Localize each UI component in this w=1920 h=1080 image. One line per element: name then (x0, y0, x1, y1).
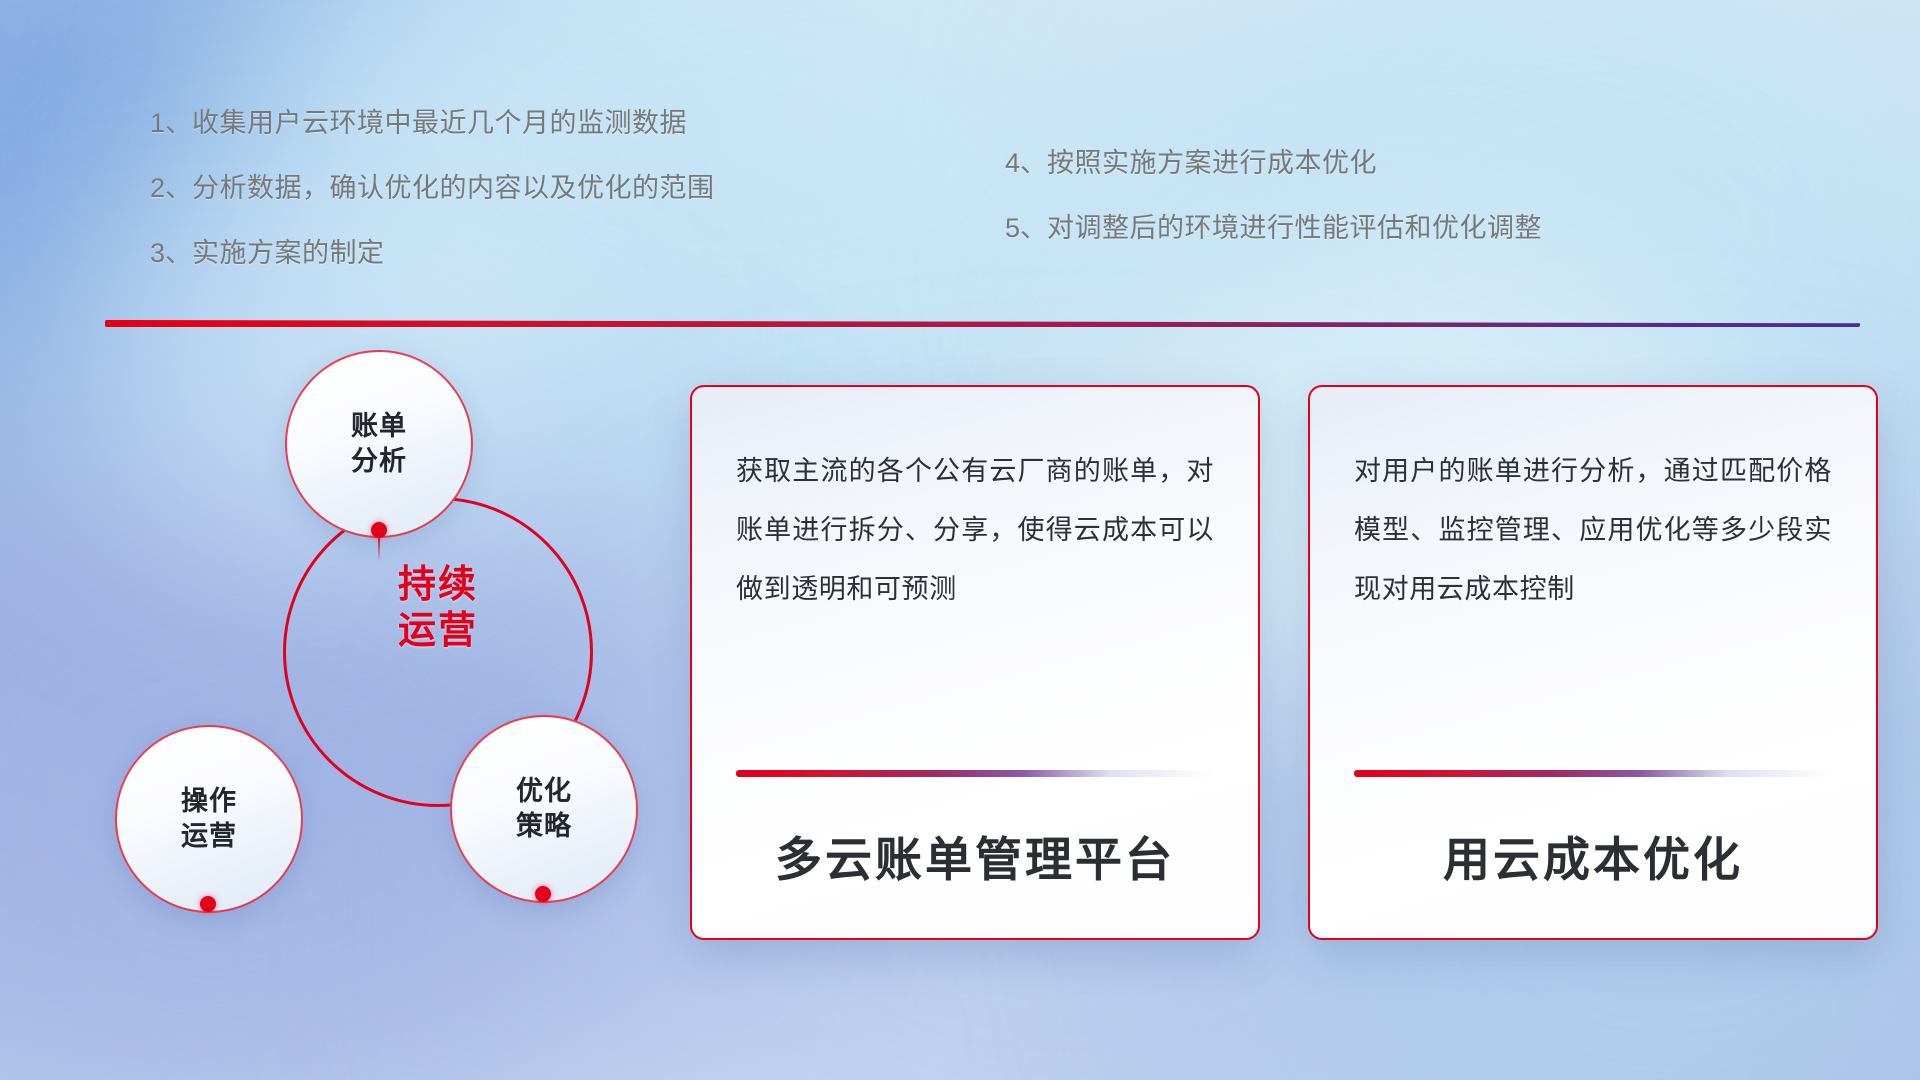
card-multi-cloud-billing-platform[interactable]: 获取主流的各个公有云厂商的账单，对账单进行拆分、分享，使得云成本可以做到透明和可… (690, 385, 1260, 940)
step-item: 2、分析数据，确认优化的内容以及优化的范围 (150, 175, 715, 202)
steps-left-column: 1、收集用户云环境中最近几个月的监测数据 2、分析数据，确认优化的内容以及优化的… (150, 110, 715, 305)
card-title: 多云账单管理平台 (736, 821, 1214, 890)
diagram-node-bill-analysis[interactable]: 账单 分析 (285, 350, 473, 538)
step-number: 5、 (1005, 213, 1047, 243)
diagram-node-line-1: 账单 (351, 409, 407, 444)
step-text: 实施方案的制定 (192, 238, 385, 268)
diagram-connector-stem (378, 536, 380, 562)
card-body-text: 对用户的账单进行分析，通过匹配价格模型、监控管理、应用优化等多少段实现对用云成本… (1354, 442, 1832, 619)
diagram-center-label: 持续 运营 (283, 562, 593, 655)
card-accent-rule (1354, 770, 1832, 777)
diagram-center-line-1: 持续 (283, 562, 593, 608)
step-item: 1、收集用户云环境中最近几个月的监测数据 (150, 110, 715, 137)
steps-section: 1、收集用户云环境中最近几个月的监测数据 2、分析数据，确认优化的内容以及优化的… (0, 0, 1920, 300)
card-accent-rule (736, 770, 1214, 777)
step-text: 对调整后的环境进行性能评估和优化调整 (1047, 213, 1542, 243)
card-cloud-cost-optimization[interactable]: 对用户的账单进行分析，通过匹配价格模型、监控管理、应用优化等多少段实现对用云成本… (1308, 385, 1878, 940)
diagram-node-line-1: 操作 (181, 784, 237, 819)
step-item: 4、按照实施方案进行成本优化 (1005, 150, 1542, 177)
diagram-node-label: 优化 策略 (516, 774, 572, 843)
diagram-node-line-2: 分析 (351, 444, 407, 479)
diagram-center-line-2: 运营 (283, 608, 593, 654)
diagram-node-line-2: 策略 (516, 809, 572, 844)
continuous-operation-diagram: 持续 运营 账单 分析 操作 运营 优化 策略 (95, 340, 615, 960)
card-title: 用云成本优化 (1354, 821, 1832, 890)
step-text: 按照实施方案进行成本优化 (1047, 148, 1377, 178)
card-body-text: 获取主流的各个公有云厂商的账单，对账单进行拆分、分享，使得云成本可以做到透明和可… (736, 442, 1214, 619)
step-number: 2、 (150, 173, 192, 203)
step-item: 3、实施方案的制定 (150, 240, 715, 267)
diagram-node-dot-bottom-left (200, 896, 216, 912)
step-number: 1、 (150, 108, 192, 138)
step-item: 5、对调整后的环境进行性能评估和优化调整 (1005, 215, 1542, 242)
diagram-node-operations[interactable]: 操作 运营 (115, 725, 303, 913)
steps-right-column: 4、按照实施方案进行成本优化 5、对调整后的环境进行性能评估和优化调整 (1005, 150, 1542, 280)
diagram-node-dot-bottom-right (535, 886, 551, 902)
step-text: 分析数据，确认优化的内容以及优化的范围 (192, 173, 715, 203)
diagram-node-label: 账单 分析 (351, 409, 407, 478)
step-number: 3、 (150, 238, 192, 268)
diagram-node-label: 操作 运营 (181, 784, 237, 853)
diagram-node-line-1: 优化 (516, 774, 572, 809)
diagram-node-dot-top (371, 522, 387, 538)
step-number: 4、 (1005, 148, 1047, 178)
diagram-node-optimization-strategy[interactable]: 优化 策略 (450, 715, 638, 903)
step-text: 收集用户云环境中最近几个月的监测数据 (192, 108, 687, 138)
diagram-node-line-2: 运营 (181, 819, 237, 854)
